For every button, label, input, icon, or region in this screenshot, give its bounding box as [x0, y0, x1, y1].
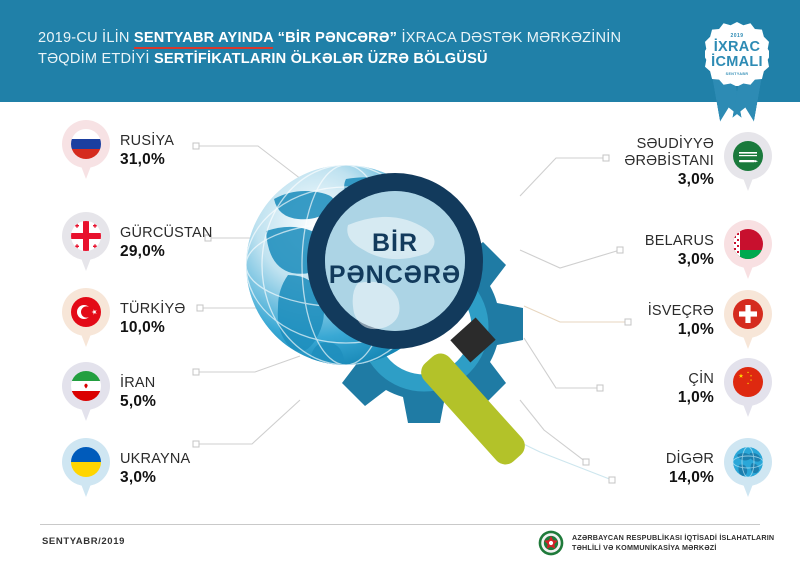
title-segment: SERTİFİKATLARIN ÖLKƏLƏR ÜZRƏ BÖLGÜSÜ: [154, 51, 488, 67]
magnifier-lens: BİR PƏNCƏRƏ: [307, 173, 483, 349]
badge-seal: 2019 İXRAC İCMALI SENTYABR: [705, 22, 769, 86]
flag-georgia-icon: [71, 221, 101, 251]
country-percentage: 3,0%: [645, 251, 714, 268]
title-segment: TƏQDİM ETDİYİ: [38, 51, 154, 67]
country-name: GÜRCÜSTAN: [120, 225, 213, 242]
country-percentage: 3,0%: [120, 469, 190, 486]
country-percentage: 29,0%: [120, 243, 213, 260]
map-pin-flag-belarus: [724, 220, 772, 280]
legend-item: TÜRKİYƏ10,0%: [62, 288, 195, 348]
map-pin-flag-russia: [62, 120, 110, 180]
legend-item: İRAN5,0%: [62, 362, 166, 422]
country-name: TÜRKİYƏ: [120, 301, 185, 318]
magnifier-text-line-one: BİR: [372, 229, 418, 257]
flag-switzerland-icon: [733, 299, 763, 329]
globe-other-icon: [733, 447, 763, 477]
country-percentage: 10,0%: [120, 319, 185, 336]
badge-line-one: İXRAC: [714, 40, 761, 55]
title-segment: 2019-CU İLİN: [38, 30, 134, 46]
footer-organization-text: AZƏRBAYCAN RESPUBLİKASI İQTİSADİ İSLAHAT…: [572, 533, 774, 553]
badge-line-two: İCMALI: [711, 55, 763, 70]
country-percentage: 3,0%: [594, 171, 714, 188]
country-name: BELARUS: [645, 233, 714, 250]
legend-label-block: SƏUDİYYƏ ƏRƏBİSTANI3,0%: [584, 136, 724, 188]
country-name: DİGƏR: [666, 451, 714, 468]
legend-label-block: GÜRCÜSTAN29,0%: [110, 225, 223, 260]
legend-label-block: ÇİN1,0%: [668, 371, 724, 406]
map-pin-flag-china: [724, 358, 772, 418]
map-pin-flag-switzerland: [724, 290, 772, 350]
legend-label-block: RUSİYA31,0%: [110, 133, 184, 168]
country-percentage: 1,0%: [678, 389, 714, 406]
legend-label-block: UKRAYNA3,0%: [110, 451, 200, 486]
legend-label-block: TÜRKİYƏ10,0%: [110, 301, 195, 336]
title-segment: SENTYABR AYINDA: [134, 30, 274, 49]
map-pin-flag-turkey: [62, 288, 110, 348]
country-percentage: 31,0%: [120, 151, 174, 168]
azerbaijan-emblem-icon: [538, 530, 564, 556]
flag-belarus-icon: [733, 229, 763, 259]
badge-year: 2019: [730, 33, 743, 39]
page-title: 2019-CU İLİN SENTYABR AYINDA “BİR PƏNCƏR…: [38, 28, 648, 70]
map-pin-flag-saudi-arabia: [724, 132, 772, 192]
map-pin-flag-iran: [62, 362, 110, 422]
globe-magnifier-gear-graphic: BİR PƏNCƏRƏ: [228, 155, 580, 485]
org-line-two: TƏHLİLİ VƏ KOMMUNİKASİYA MƏRKƏZİ: [572, 543, 774, 553]
header-banner: 2019-CU İLİN SENTYABR AYINDA “BİR PƏNCƏR…: [0, 0, 800, 102]
country-name: SƏUDİYYƏ ƏRƏBİSTANI: [594, 136, 714, 170]
legend-item: GÜRCÜSTAN29,0%: [62, 212, 223, 272]
flag-iran-icon: [71, 371, 101, 401]
flag-ukraine-icon: [71, 447, 101, 477]
footer-date: SENTYABR/2019: [42, 536, 125, 547]
legend-label-block: İSVEÇRƏ1,0%: [638, 303, 724, 338]
title-segment: İXRACA DƏSTƏK MƏRKƏZİNİN: [397, 30, 621, 46]
flag-russia-icon: [71, 129, 101, 159]
legend-item: SƏUDİYYƏ ƏRƏBİSTANI3,0%: [584, 132, 772, 192]
org-line-one: AZƏRBAYCAN RESPUBLİKASI İQTİSADİ İSLAHAT…: [572, 533, 774, 543]
title-segment: “BİR PƏNCƏRƏ”: [273, 30, 397, 46]
legend-item: DİGƏR14,0%: [656, 438, 772, 498]
flag-turkey-icon: [71, 297, 101, 327]
country-name: RUSİYA: [120, 133, 174, 150]
legend-item: UKRAYNA3,0%: [62, 438, 200, 498]
legend-item: ÇİN1,0%: [668, 358, 772, 418]
map-pin-flag-ukraine: [62, 438, 110, 498]
legend-item: BELARUS3,0%: [635, 220, 772, 280]
footer-divider: [40, 524, 760, 525]
footer-organization: AZƏRBAYCAN RESPUBLİKASI İQTİSADİ İSLAHAT…: [538, 530, 774, 556]
country-name: UKRAYNA: [120, 451, 190, 468]
map-pin-flag-georgia: [62, 212, 110, 272]
country-percentage: 1,0%: [648, 321, 714, 338]
country-name: İSVEÇRƏ: [648, 303, 714, 320]
map-pin-globe-other: [724, 438, 772, 498]
legend-item: İSVEÇRƏ1,0%: [638, 290, 772, 350]
legend-label-block: BELARUS3,0%: [635, 233, 724, 268]
country-percentage: 14,0%: [666, 469, 714, 486]
country-percentage: 5,0%: [120, 393, 156, 410]
legend-label-block: İRAN5,0%: [110, 375, 166, 410]
legend-label-block: DİGƏR14,0%: [656, 451, 724, 486]
infographic-page: 2019-CU İLİN SENTYABR AYINDA “BİR PƏNCƏR…: [0, 0, 800, 566]
flag-saudi-arabia-icon: [733, 141, 763, 171]
magnifier-text-line-two: PƏNCƏRƏ: [329, 261, 461, 289]
country-name: ÇİN: [678, 371, 714, 388]
flag-china-icon: [733, 367, 763, 397]
badge-subtitle: SENTYABR: [726, 72, 749, 76]
legend-item: RUSİYA31,0%: [62, 120, 184, 180]
country-name: İRAN: [120, 375, 156, 392]
